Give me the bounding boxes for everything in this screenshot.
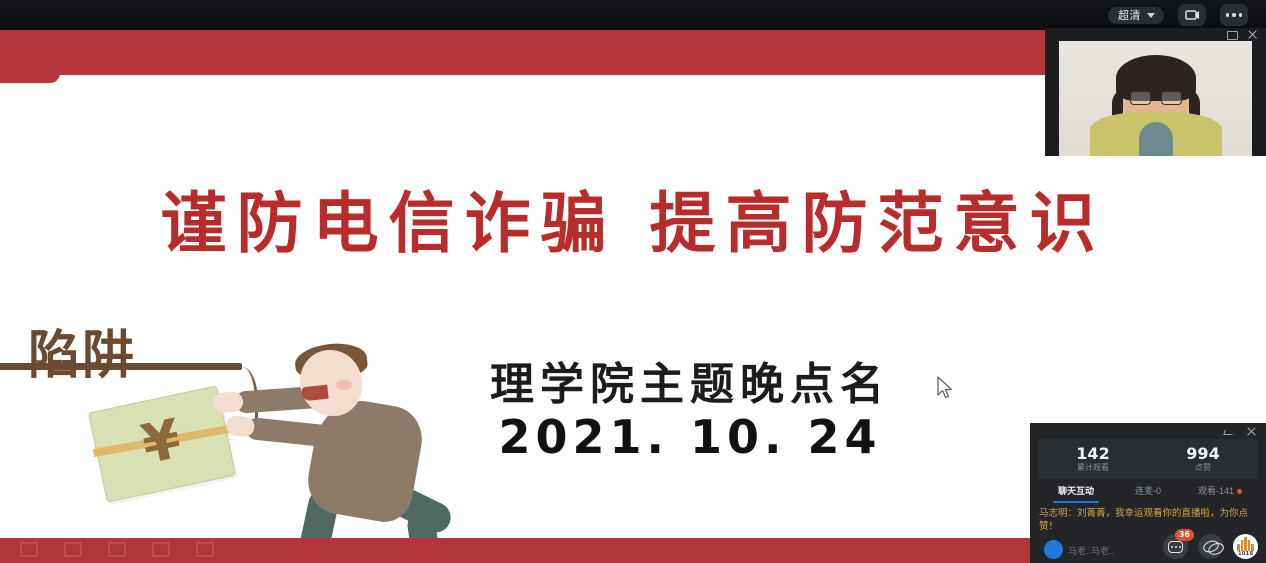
watermark-shape <box>196 542 214 557</box>
watermark-shape <box>20 542 38 557</box>
stat-cumulative-views: 142 累计观看 <box>1038 445 1148 473</box>
tab-label: 观看-141 <box>1198 486 1234 496</box>
close-icon[interactable] <box>1246 426 1257 437</box>
more-options-button[interactable] <box>1220 4 1248 26</box>
chat-input[interactable]: 马老..马老.. <box>1068 544 1114 557</box>
presenter-glasses-icon <box>1130 91 1182 105</box>
player-top-bar: 超清 <box>0 0 1266 30</box>
crest-icon <box>1233 535 1258 551</box>
presenter-collar <box>1139 122 1173 156</box>
man-head <box>300 350 362 416</box>
stat-value: 994 <box>1148 445 1258 462</box>
live-stream-player: 超清 谨防电信诈骗 提高防范意识 陷阱 <box>0 0 1266 563</box>
player-controls-group: 超清 <box>1108 0 1248 30</box>
cast-screen-icon <box>1185 9 1200 22</box>
stat-likes: 994 点赞 <box>1148 445 1258 473</box>
chat-message: 马志明：刘菁菁，我幸运观看你的直播啦，为你点赞！ <box>1039 507 1257 533</box>
watermark-shape <box>108 542 126 557</box>
slide-main-title: 谨防电信诈骗 提高防范意识 <box>0 170 1266 266</box>
stat-label: 累计观看 <box>1038 462 1148 473</box>
webcam-video-feed[interactable] <box>1059 41 1252 156</box>
man-cheek <box>336 380 352 390</box>
quality-selector[interactable]: 超清 <box>1108 7 1164 24</box>
mouse-cursor <box>936 376 954 400</box>
live-dot-icon <box>1237 489 1242 494</box>
minimize-icon[interactable] <box>1223 426 1234 437</box>
more-options-icon <box>1226 13 1243 17</box>
webcam-titlebar <box>1045 28 1266 41</box>
stat-label: 点赞 <box>1148 462 1258 473</box>
maximize-icon[interactable] <box>1226 29 1237 40</box>
man-mouth <box>301 385 328 402</box>
chat-panel-tabs: 聊天互动 连麦-0 观看-141 <box>1030 479 1266 501</box>
chat-bubble-icon <box>1171 546 1181 548</box>
quality-label: 超清 <box>1118 10 1141 21</box>
avatar[interactable] <box>1044 540 1063 559</box>
tab-viewers[interactable]: 观看-141 <box>1184 484 1256 497</box>
school-crest-fab[interactable]: 1018 <box>1233 534 1258 559</box>
tab-label: 连麦-0 <box>1135 486 1161 496</box>
stats-row: 142 累计观看 994 点赞 <box>1038 439 1258 479</box>
trap-label-text: 陷阱 <box>28 313 136 388</box>
unread-badge: 36 <box>1175 529 1194 541</box>
cast-screen-button[interactable] <box>1178 4 1206 26</box>
stat-value: 142 <box>1038 445 1148 462</box>
slide-watermark-group <box>20 542 214 557</box>
trap-rod-icon <box>0 363 242 370</box>
close-icon[interactable] <box>1247 29 1258 40</box>
watermark-shape <box>64 542 82 557</box>
chat-bubble-fab[interactable]: 36 <box>1163 534 1188 559</box>
chat-message-separator: ： <box>1068 508 1078 519</box>
chat-panel-titlebar <box>1030 423 1266 439</box>
crest-label: 1018 <box>1238 551 1253 558</box>
link-share-fab[interactable] <box>1198 534 1223 559</box>
chat-message-sender: 马志明 <box>1039 508 1068 519</box>
tab-chat-interaction[interactable]: 聊天互动 <box>1040 484 1112 497</box>
watermark-shape <box>152 542 170 557</box>
floating-action-group: 36 1018 <box>1163 534 1258 559</box>
running-man-illustration <box>240 330 490 563</box>
slide-subtitle: 理学院主题晚点名 <box>455 348 925 412</box>
chevron-down-icon <box>1147 13 1155 18</box>
tab-label: 聊天互动 <box>1058 486 1094 496</box>
tab-mic-queue[interactable]: 连麦-0 <box>1112 484 1184 497</box>
webcam-pip-window[interactable] <box>1045 28 1266 156</box>
slide-date: 2021. 10. 24 <box>455 410 925 464</box>
